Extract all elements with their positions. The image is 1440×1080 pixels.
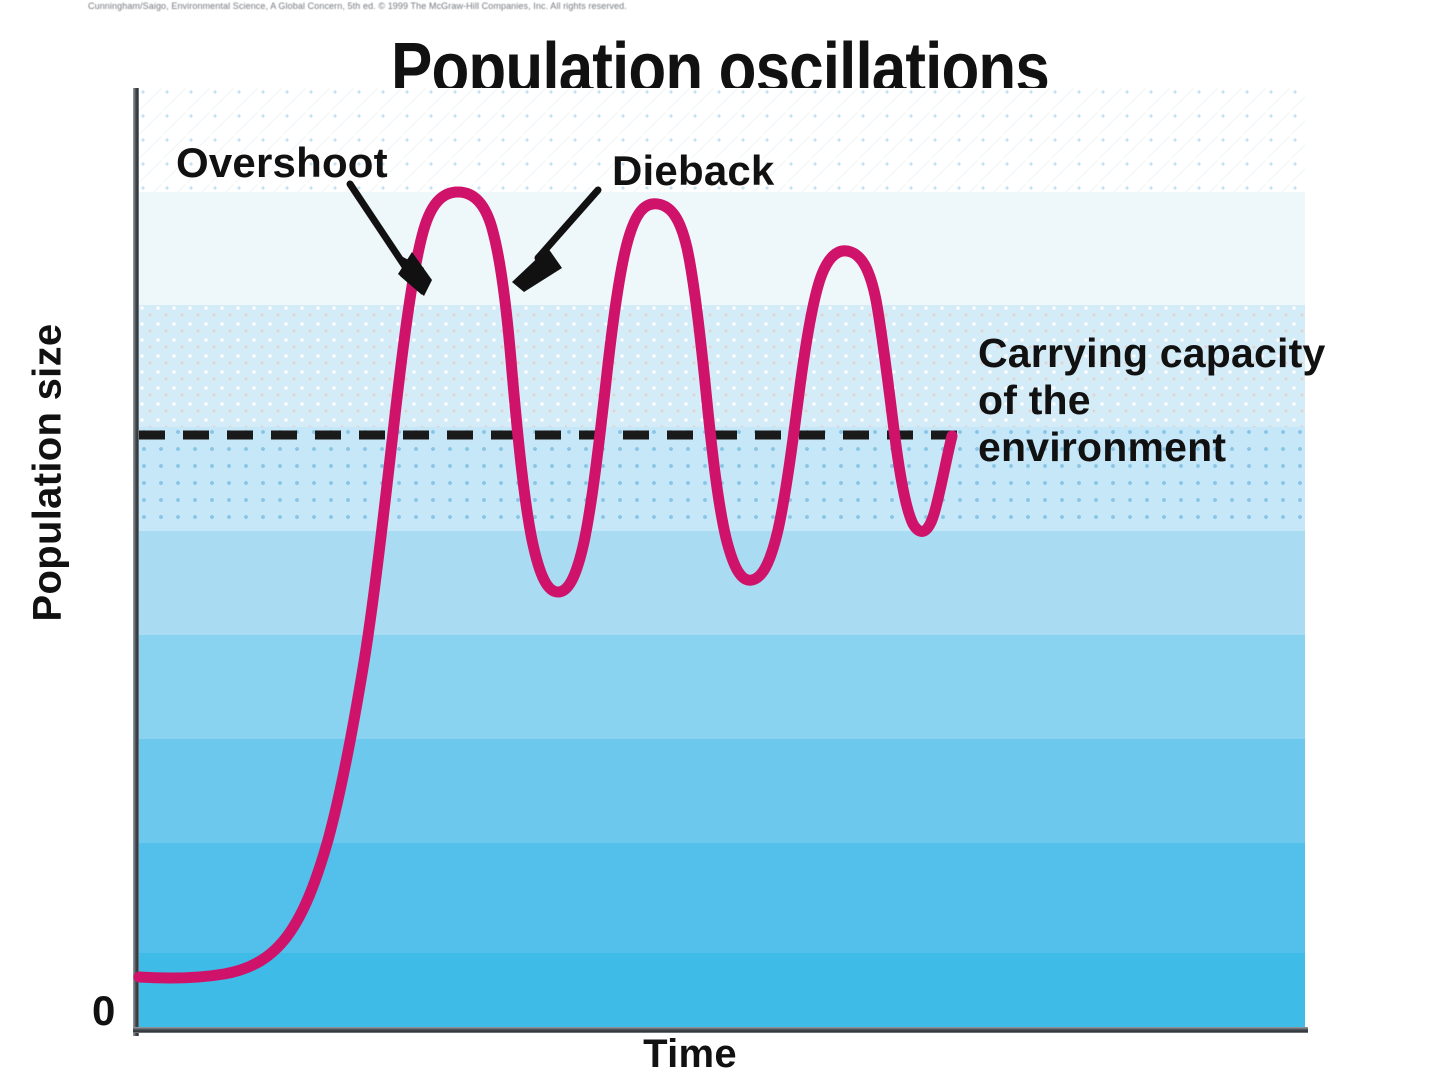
origin-label: 0	[92, 990, 115, 1032]
x-axis-label: Time	[540, 1032, 840, 1077]
y-axis-label: Population size	[26, 193, 71, 753]
overshoot-label: Overshoot	[176, 140, 388, 186]
population-oscillations-chart: Population size Time 0 Overshoot Dieback…	[0, 0, 1440, 1080]
dieback-arrow	[512, 190, 598, 292]
population-curve	[139, 192, 952, 978]
carrying-capacity-label: Carrying capacity of the environment	[978, 330, 1328, 471]
dieback-label: Dieback	[612, 148, 775, 194]
